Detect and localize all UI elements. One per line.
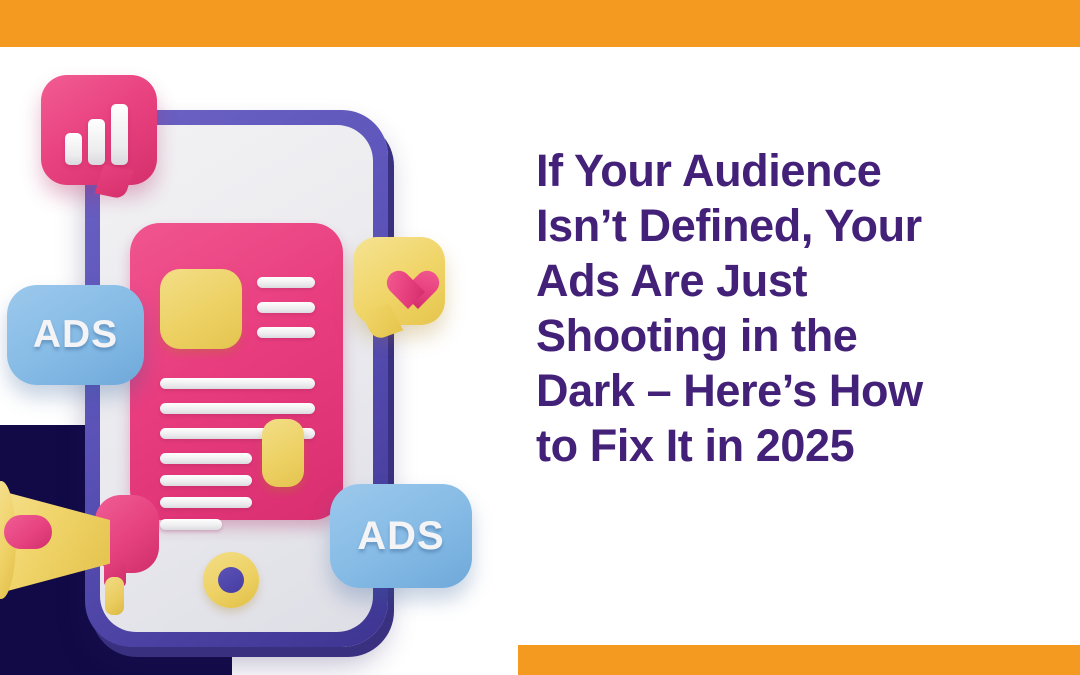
heart-bubble xyxy=(353,237,445,325)
ads-bubble-right: ADS xyxy=(330,484,472,588)
card-thumbnail xyxy=(160,269,242,349)
poster-canvas: ADS ADS If Your Audience Isn’t Defined, … xyxy=(0,0,1080,675)
card-line-short xyxy=(257,327,315,338)
card-line-short xyxy=(257,277,315,288)
top-accent-bar xyxy=(0,0,1080,47)
ads-bubble-right-label: ADS xyxy=(357,514,444,559)
card-line-long xyxy=(160,403,315,414)
ads-bubble-left: ADS xyxy=(7,285,144,385)
megaphone-handle xyxy=(105,577,124,615)
illustration: ADS ADS xyxy=(0,47,500,647)
heart-icon xyxy=(378,255,424,297)
chart-bubble xyxy=(41,75,157,185)
card-line-medium xyxy=(160,453,252,464)
card-line-short xyxy=(257,302,315,313)
bar-chart-icon xyxy=(65,133,82,165)
ads-bubble-left-label: ADS xyxy=(33,313,118,357)
phone-home-button xyxy=(203,552,259,608)
page-title: If Your Audience Isn’t Defined, Your Ads… xyxy=(536,143,1064,473)
card-accent-chip xyxy=(262,419,304,487)
bar-chart-icon xyxy=(111,104,128,165)
megaphone-icon xyxy=(0,465,182,610)
bar-chart-icon xyxy=(88,119,105,165)
megaphone-inner xyxy=(4,515,52,549)
bottom-accent-bar xyxy=(518,645,1080,675)
card-line-long xyxy=(160,378,315,389)
